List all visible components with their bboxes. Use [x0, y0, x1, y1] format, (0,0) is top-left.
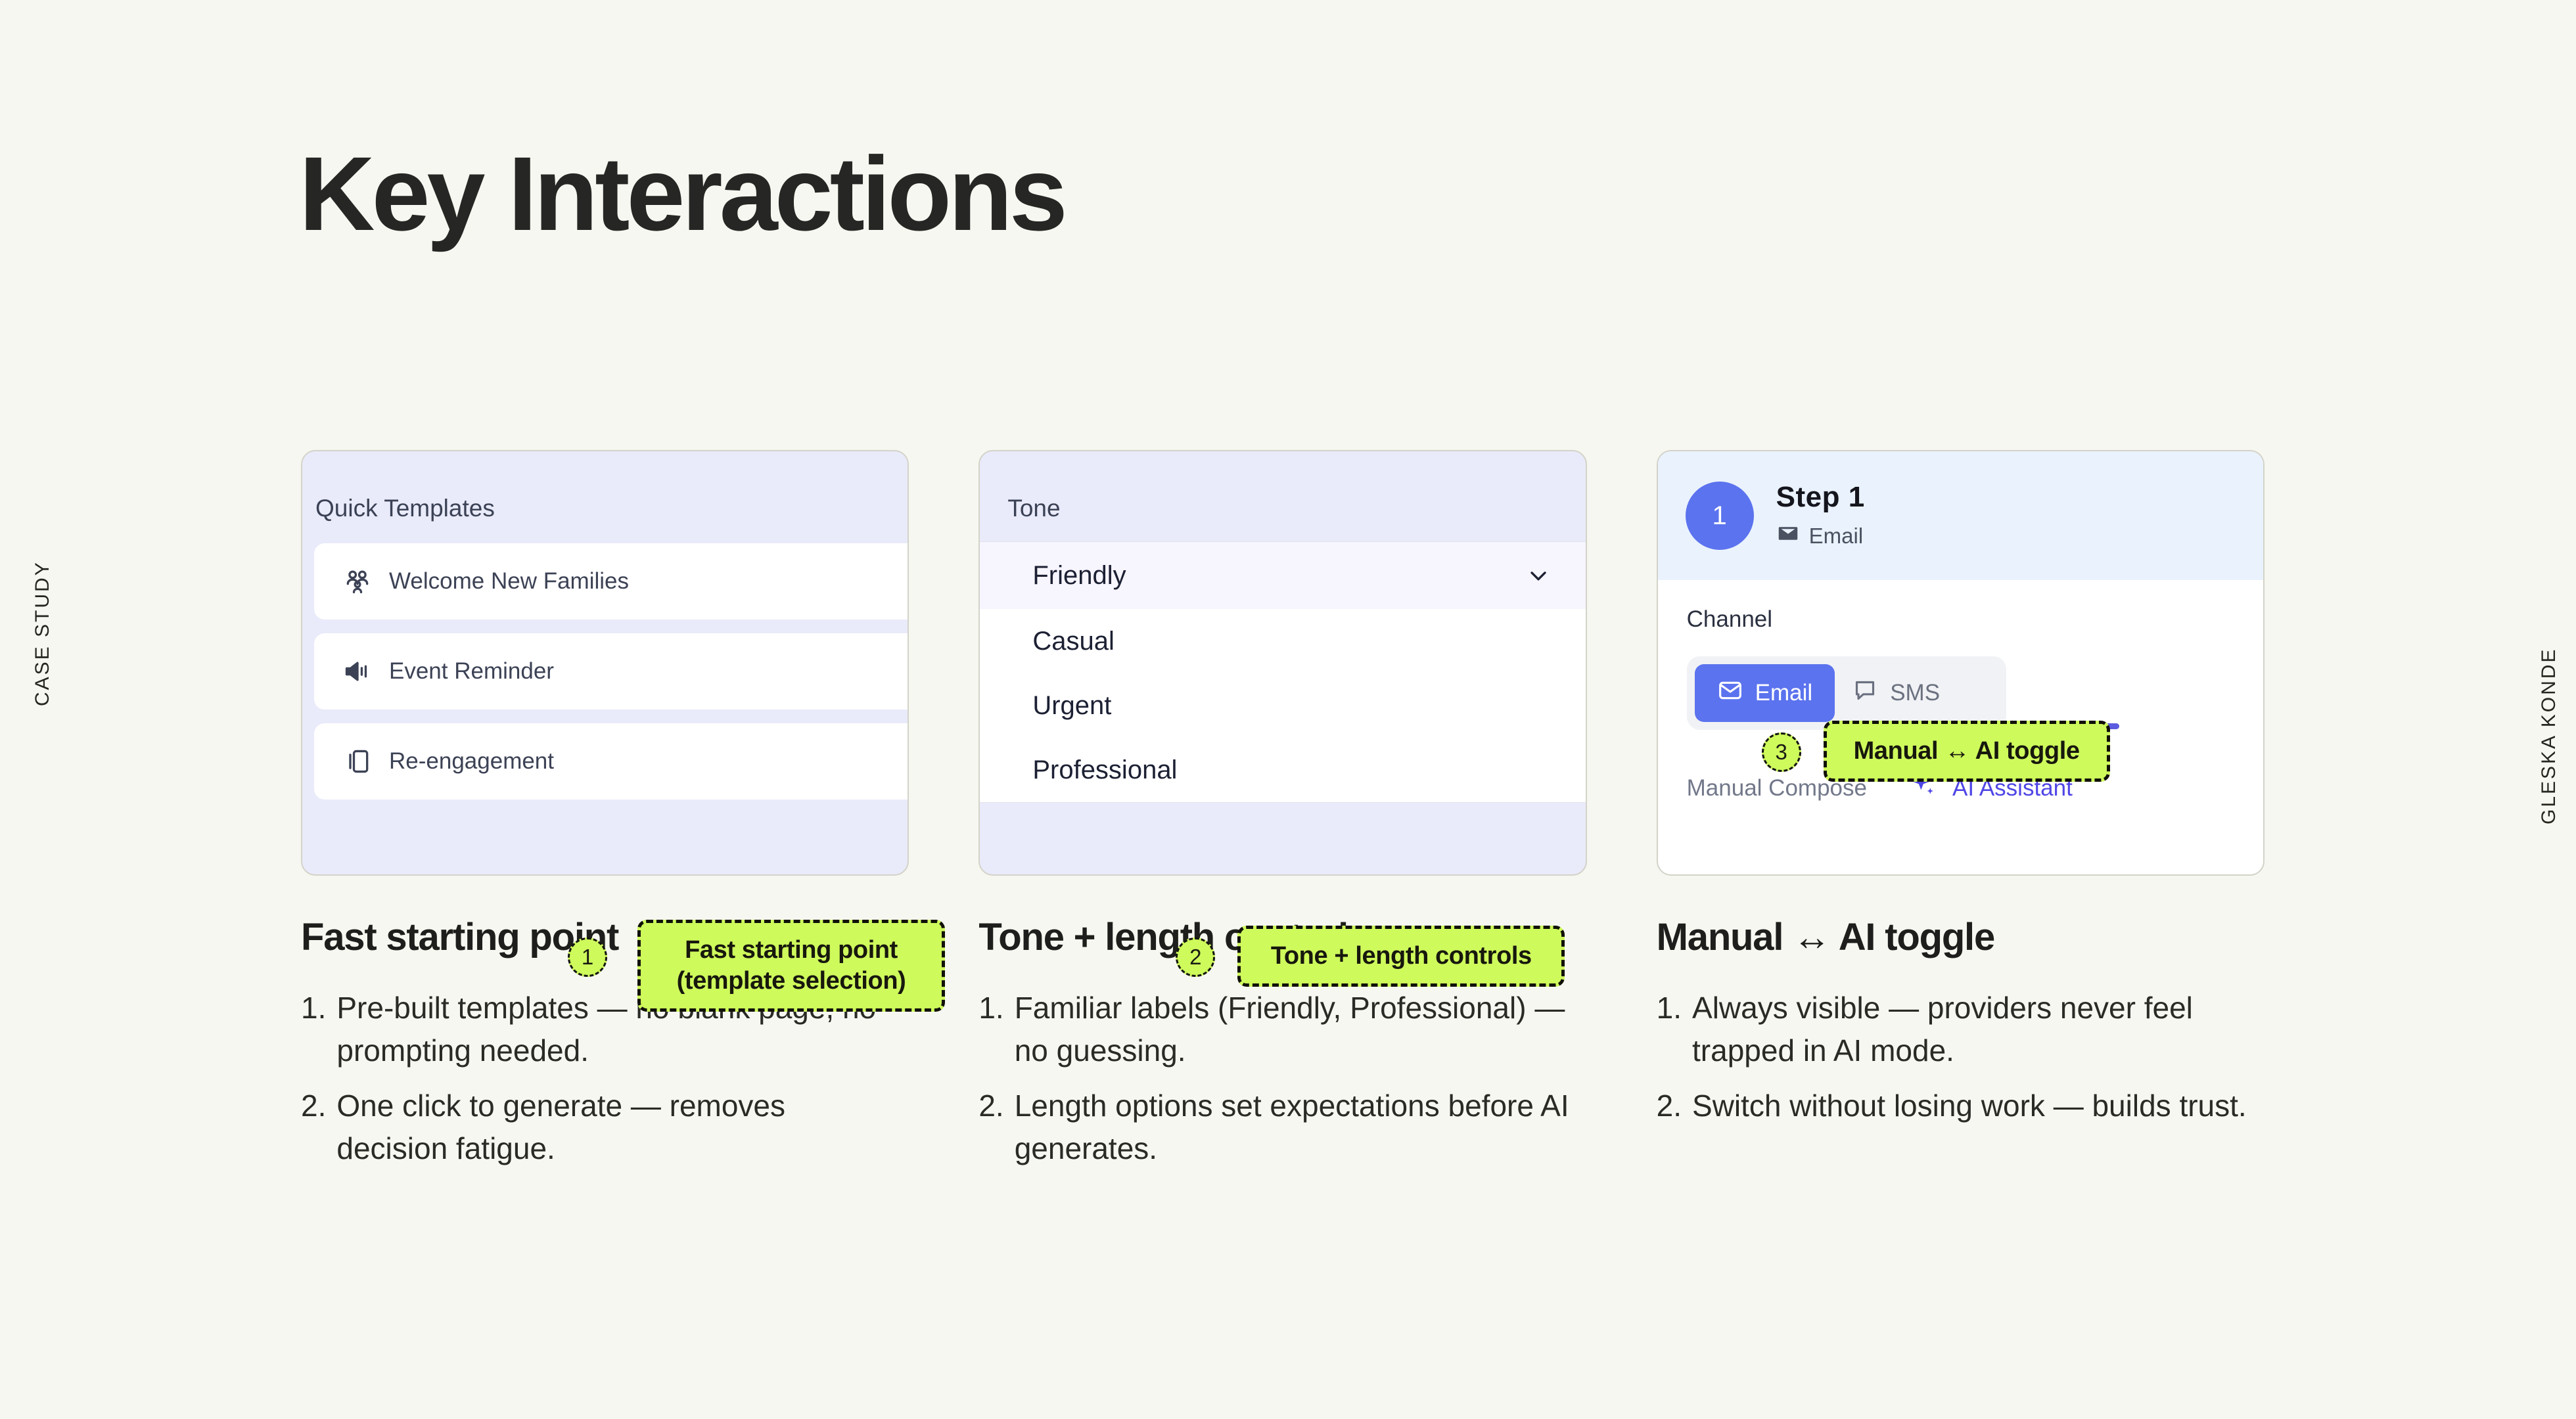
segment-email[interactable]: Email	[1695, 664, 1835, 722]
quick-templates-card: Quick Templates	[301, 450, 909, 876]
template-label: Welcome New Families	[389, 568, 629, 595]
list-item[interactable]: Event Reminder	[314, 633, 908, 709]
item-text: One click to generate — removes decision…	[336, 1085, 895, 1171]
dropdown-value: Friendly	[1032, 561, 1126, 591]
callout-line-1: Fast starting point	[658, 935, 925, 966]
item-number: 2.	[1657, 1085, 1682, 1127]
users-icon	[343, 567, 372, 596]
step-title: Step 1	[1776, 481, 1865, 514]
step-subtitle: Email	[1776, 522, 1865, 551]
block-list: 1. Pre-built templates — no blank page, …	[301, 987, 909, 1170]
item-text: Familiar labels (Friendly, Professional)…	[1015, 987, 1573, 1073]
template-list: Welcome New Families Event Reminder	[314, 543, 908, 813]
dropdown-option[interactable]: Professional	[980, 738, 1585, 802]
tone-label: Tone	[1007, 495, 1060, 522]
block-list: 1. Familiar labels (Friendly, Profession…	[978, 987, 1586, 1170]
column-manual-ai-toggle: 1 Step 1 Email	[1657, 450, 2265, 1182]
dropdown-option[interactable]: Casual	[980, 609, 1585, 673]
block-list: 1. Always visible — providers never feel…	[1657, 987, 2265, 1127]
list-item[interactable]: Re-engagement	[314, 723, 908, 800]
step-header: 1 Step 1 Email	[1658, 451, 2263, 580]
quick-templates-header: Quick Templates	[315, 495, 495, 522]
chevron-down-icon	[1525, 562, 1552, 589]
callout-line-2: (template selection)	[658, 966, 925, 997]
tone-dropdown-card: Tone Friendly Casual Urgent P	[978, 450, 1586, 876]
callout-line-1: Tone + length controls	[1258, 941, 1544, 972]
annotation-badge-2: 2	[1176, 937, 1215, 977]
template-label: Event Reminder	[389, 658, 554, 685]
item-number: 1.	[978, 987, 1003, 1073]
annotation-callout-2: Tone + length controls	[1237, 926, 1565, 987]
item-text: Always visible — providers never feel tr…	[1692, 987, 2251, 1073]
segment-sms[interactable]: SMS	[1835, 664, 1957, 722]
dropdown-option[interactable]: Urgent	[980, 673, 1585, 738]
annotation-badge-3: 3	[1762, 732, 1801, 772]
step-channel-card: 1 Step 1 Email	[1657, 450, 2265, 876]
callout-line-1: Manual ↔ AI toggle	[1844, 736, 2090, 767]
segment-email-label: Email	[1755, 680, 1813, 706]
author-rail-label: GLESKA KONDE	[2538, 648, 2560, 824]
text-block-3: Manual ↔ AI toggle 1. Always visible — p…	[1657, 915, 2265, 1127]
segment-sms-label: SMS	[1890, 680, 1940, 706]
item-text: Length options set expectations before A…	[1015, 1085, 1573, 1171]
envelope-icon	[1776, 522, 1800, 551]
list-item: 2. Length options set expectations befor…	[978, 1085, 1586, 1171]
item-number: 2.	[301, 1085, 326, 1171]
envelope-icon	[1717, 677, 1743, 709]
block-heading: Manual ↔ AI toggle	[1657, 915, 2265, 959]
item-number: 2.	[978, 1085, 1003, 1171]
tone-dropdown[interactable]: Friendly Casual Urgent Professional	[980, 541, 1585, 803]
annotation-badge-1: 1	[568, 937, 607, 977]
megaphone-icon	[343, 657, 372, 686]
channel-segmented-control[interactable]: Email SMS	[1687, 656, 2006, 730]
step-text: Step 1 Email	[1776, 481, 1865, 551]
page-title: Key Interactions	[299, 141, 1065, 246]
channel-label: Channel	[1687, 606, 2237, 633]
column-fast-starting-point: Quick Templates	[301, 450, 909, 1182]
list-item: 1. Always visible — providers never feel…	[1657, 987, 2265, 1073]
case-study-rail-label: CASE STUDY	[32, 560, 54, 706]
columns-container: Quick Templates	[301, 450, 2265, 1182]
item-number: 1.	[301, 987, 326, 1073]
step-number-badge: 1	[1686, 482, 1754, 550]
item-text: Switch without losing work — builds trus…	[1692, 1085, 2247, 1127]
dropdown-selected-option[interactable]: Friendly	[980, 542, 1585, 609]
chat-bubble-icon	[1852, 677, 1878, 709]
annotation-callout-1: Fast starting point (template selection)	[637, 920, 945, 1012]
list-item: 1. Familiar labels (Friendly, Profession…	[978, 987, 1586, 1073]
template-label: Re-engagement	[389, 748, 554, 775]
item-number: 1.	[1657, 987, 1682, 1073]
column-tone-length-controls: Tone Friendly Casual Urgent P	[978, 450, 1586, 1182]
copy-icon	[343, 747, 372, 776]
step-subtitle-label: Email	[1809, 524, 1864, 549]
slide-root: CASE STUDY GLESKA KONDE Key Interactions…	[0, 0, 2576, 1419]
list-item: 2. One click to generate — removes decis…	[301, 1085, 909, 1171]
annotation-callout-3: Manual ↔ AI toggle	[1824, 721, 2110, 782]
list-item: 2. Switch without losing work — builds t…	[1657, 1085, 2265, 1127]
list-item[interactable]: Welcome New Families	[314, 543, 908, 619]
